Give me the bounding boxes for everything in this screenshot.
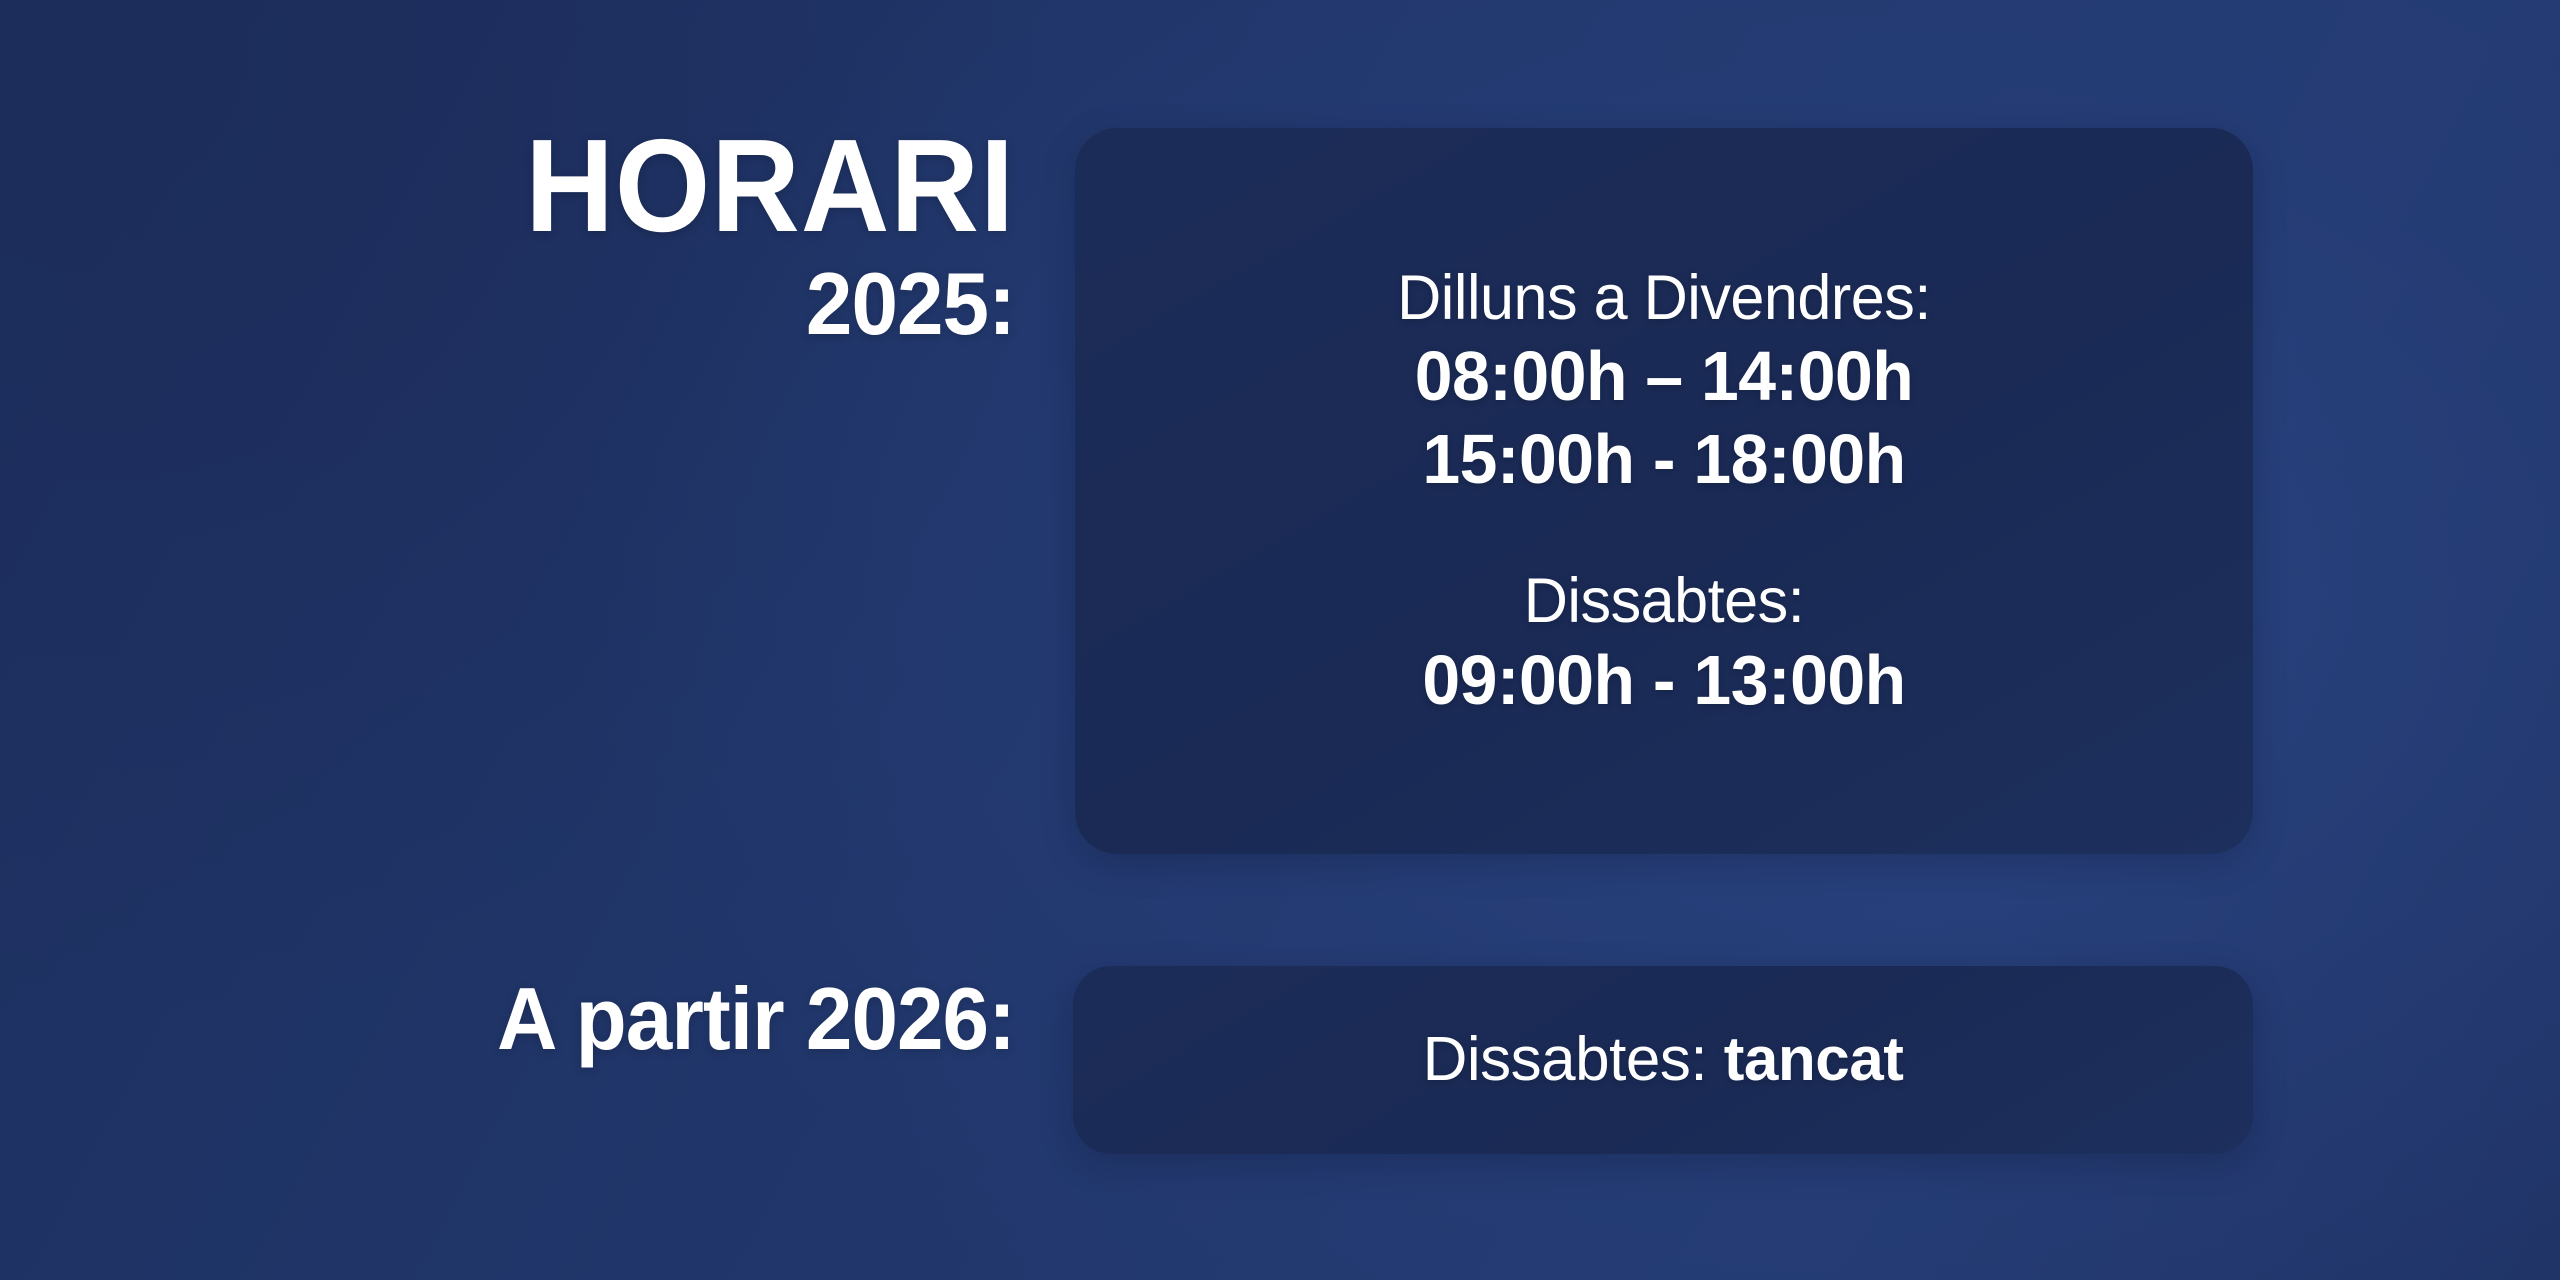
saturday-hours: 09:00h - 13:00h [1093, 639, 2236, 722]
saturday-day-label: Dissabtes: [1093, 564, 2236, 638]
saturday-schedule-group: Dissabtes: 09:00h - 13:00h [1075, 564, 2253, 721]
poster-canvas: HORARI 2025: Dilluns a Divendres: 08:00h… [0, 0, 2560, 1280]
future-schedule-title-block: A partir 2026: [0, 975, 1015, 1063]
future-saturday-status: tancat [1724, 1025, 1904, 1094]
weekday-afternoon-hours: 15:00h - 18:00h [1093, 418, 2236, 501]
weekday-morning-hours: 08:00h – 14:00h [1093, 335, 2236, 418]
weekday-schedule-group: Dilluns a Divendres: 08:00h – 14:00h 15:… [1075, 261, 2253, 501]
page-title: HORARI [71, 120, 1015, 252]
future-notice-card: Dissabtes: tancat [1073, 966, 2253, 1154]
future-phase-label: A partir 2026: [51, 975, 1015, 1063]
notice-space [1707, 1025, 1724, 1094]
future-saturday-label: Dissabtes: [1423, 1025, 1707, 1094]
current-schedule-title-block: HORARI 2025: [0, 120, 1015, 356]
current-year-label: 2025: [51, 252, 1015, 356]
weekday-day-label: Dilluns a Divendres: [1093, 261, 2236, 335]
future-notice-line: Dissabtes: tancat [1423, 1026, 1904, 1094]
schedule-card: Dilluns a Divendres: 08:00h – 14:00h 15:… [1075, 128, 2253, 854]
